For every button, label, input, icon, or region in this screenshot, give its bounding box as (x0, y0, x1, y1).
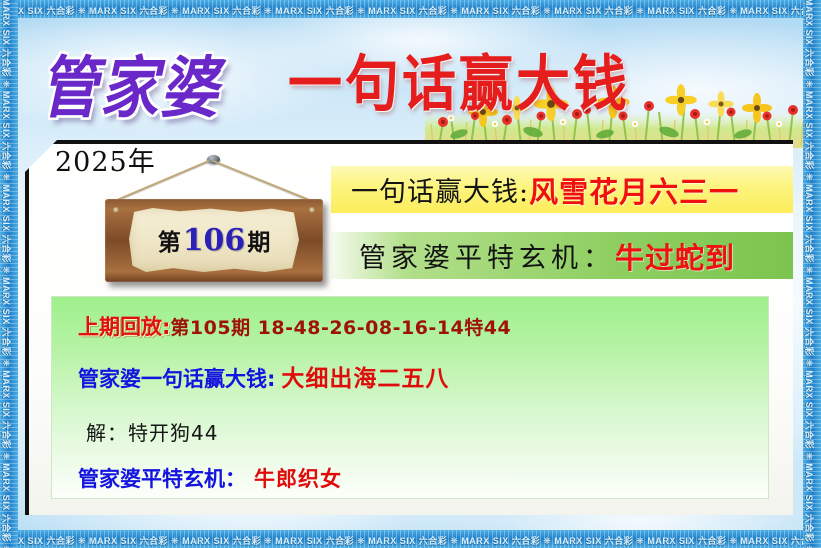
parchment: 第106期 (129, 208, 299, 272)
banner-phrase-of-luck: 一句话赢大钱: 风雪花月六三一 (331, 166, 795, 213)
review-tip-label: 管家婆平特玄机： (78, 463, 246, 493)
review-tip-value: 牛郎织女 (246, 463, 342, 493)
review-phrase-label: 管家婆一句话赢大钱: (78, 363, 275, 393)
review-row-draw: 上期回放: 第105期 18-48-26-08-16-14特44 (78, 311, 768, 341)
review-explain-1: 解：特开狗44 (86, 417, 218, 446)
border-right: MARX SIX 六合彩 ❋ MARX SIX 六合彩 ❋ MARX SIX 六… (803, 0, 821, 548)
border-bottom-text: MARX SIX 六合彩 ❋ MARX SIX 六合彩 ❋ MARX SIX 六… (0, 534, 821, 547)
review-row-explain-1: 解：特开狗44 (78, 417, 768, 446)
issue-number: 106 (181, 223, 248, 258)
previous-draw-box: 上期回放: 第105期 18-48-26-08-16-14特44 管家婆一句话赢… (51, 296, 769, 499)
cord-right-icon (213, 160, 309, 200)
review-row-phrase: 管家婆一句话赢大钱: 大细出海二五八 (78, 359, 768, 393)
review-phrase-value: 大细出海二五八 (275, 359, 449, 393)
review-draw-numbers: 第105期 18-48-26-08-16-14特44 (170, 313, 511, 340)
border-left: MARX SIX 六合彩 ❋ MARX SIX 六合彩 ❋ MARX SIX 六… (0, 0, 18, 548)
banner-value-1: 风雪花月六三一 (529, 169, 739, 211)
lottery-poster: 管家婆 一句话赢大钱 (0, 0, 821, 548)
border-right-text: MARX SIX 六合彩 ❋ MARX SIX 六合彩 ❋ MARX SIX 六… (803, 0, 816, 548)
wooden-board: 第106期 (105, 199, 323, 282)
banner-label-2: 管家婆平特玄机： (359, 236, 615, 275)
border-bottom: MARX SIX 六合彩 ❋ MARX SIX 六合彩 ❋ MARX SIX 六… (0, 530, 821, 548)
banner-value-2: 牛过蛇到 (615, 235, 735, 277)
border-left-text: MARX SIX 六合彩 ❋ MARX SIX 六合彩 ❋ MARX SIX 六… (0, 0, 13, 548)
banner-special-tip: 管家婆平特玄机： 牛过蛇到 (331, 232, 795, 279)
issue-number-text: 第106期 (158, 223, 271, 258)
banner-label-1: 一句话赢大钱: (351, 170, 529, 209)
poster-header: 管家婆 一句话赢大钱 (0, 26, 821, 118)
review-row-tip: 管家婆平特玄机： 牛郎织女 (78, 463, 768, 493)
brand-title: 管家婆 (40, 34, 220, 131)
issue-suffix: 期 (247, 229, 270, 256)
border-top: MARX SIX 六合彩 ❋ MARX SIX 六合彩 ❋ MARX SIX 六… (0, 0, 821, 18)
cord-left-icon (117, 160, 210, 201)
slogan-title: 一句话赢大钱 (288, 34, 630, 122)
hanging-issue-sign: 第106期 (95, 155, 335, 290)
review-title: 上期回放: (78, 311, 170, 341)
border-top-text: MARX SIX 六合彩 ❋ MARX SIX 六合彩 ❋ MARX SIX 六… (0, 4, 821, 17)
issue-prefix: 第 (158, 229, 181, 256)
